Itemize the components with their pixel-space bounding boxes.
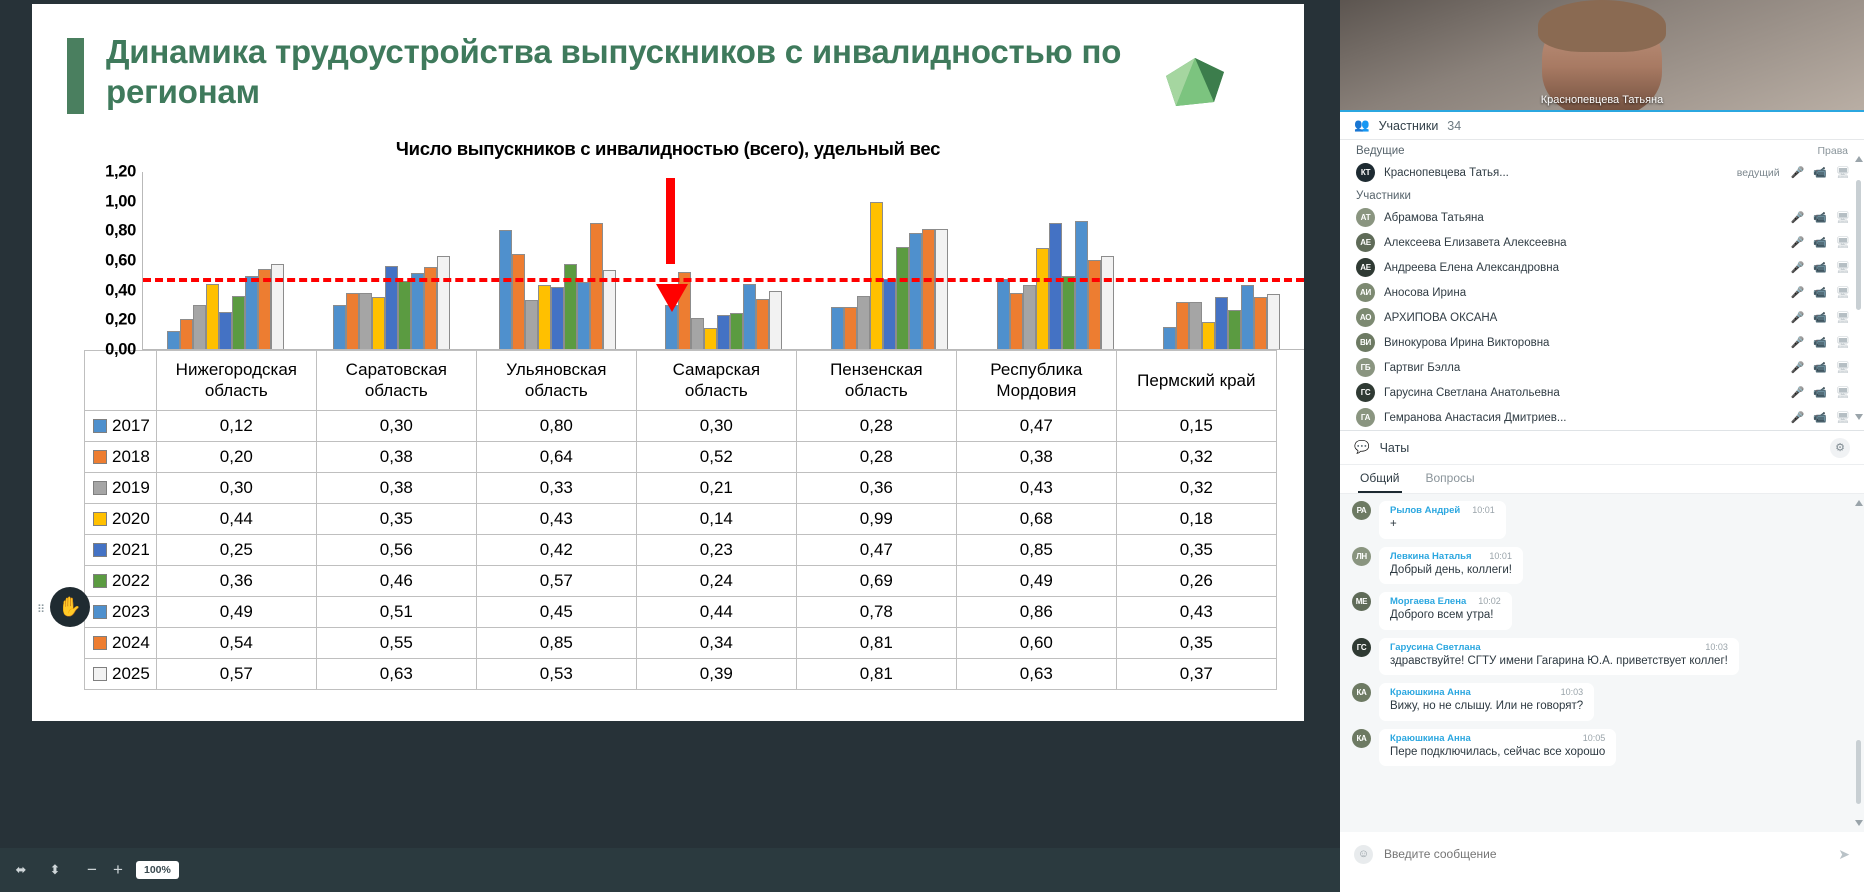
hosts-label: Ведущие (1356, 145, 1405, 157)
avatar: ГС (1356, 383, 1375, 402)
bar (1163, 327, 1176, 349)
red-arrow-annotation (662, 178, 678, 358)
participant-name: Алексеева Елизавета Алексеевна (1384, 237, 1782, 249)
chat-message: КАКраюшкина Анна10:03Вижу, но не слышу. … (1352, 683, 1852, 721)
table-cell: 0,44 (156, 503, 316, 534)
legend-entry: 2017 (85, 410, 157, 441)
avatar: КА (1352, 729, 1371, 748)
speaker-video-tile[interactable]: Краснопевцева Татьяна (1340, 0, 1864, 112)
screen-share-icon[interactable]: 🖥 (1836, 261, 1850, 274)
title-accent-bar (67, 38, 84, 114)
message-author: Левкина Наталья (1390, 551, 1472, 562)
bar (232, 296, 245, 349)
message-text: + (1390, 517, 1495, 533)
table-cell: 0,35 (1116, 627, 1276, 658)
table-category-header: Саратовская область (316, 351, 476, 411)
screen-share-icon[interactable]: 🖥 (1836, 386, 1850, 399)
table-cell: 0,36 (796, 472, 956, 503)
table-cell: 0,23 (636, 534, 796, 565)
legend-entry: 2023 (85, 596, 157, 627)
message-time: 10:01 (1472, 505, 1495, 515)
bar (512, 254, 525, 349)
chat-bubble: Гарусина Светлана10:03здравствуйте! СГТУ… (1379, 638, 1739, 676)
slide-title-row: Динамика трудоустройства выпускников с и… (32, 4, 1304, 114)
participant-row[interactable]: КТКраснопевцева Татья...ведущий🎤📹🖥 (1340, 160, 1864, 185)
legend-swatch (93, 512, 107, 526)
table-cell: 0,85 (476, 627, 636, 658)
tab-questions[interactable]: Вопросы (1424, 465, 1477, 493)
legend-entry: 2022 (85, 565, 157, 596)
bar (372, 297, 385, 349)
table-cell: 0,78 (796, 596, 956, 627)
legend-swatch (93, 450, 107, 464)
chat-bubble: Рылов Андрей10:01+ (1379, 501, 1506, 539)
table-cell: 0,80 (476, 410, 636, 441)
participant-row[interactable]: АЕАлексеева Елизавета Алексеевна🎤📹🖥 (1340, 230, 1864, 255)
mic-off-icon[interactable]: 🎤 (1791, 261, 1805, 274)
participant-name: АРХИПОВА ОКСАНА (1384, 312, 1782, 324)
participant-controls[interactable]: 🎤📹🖥 (1791, 261, 1850, 274)
bar (1228, 310, 1241, 349)
participants-section-header: Участники (1340, 185, 1864, 205)
participant-controls[interactable]: 🎤📹🖥 (1791, 211, 1850, 224)
table-row: 20190,300,380,330,210,360,430,32 (85, 472, 1277, 503)
table-cell: 0,32 (1116, 441, 1276, 472)
message-author: Рылов Андрей (1390, 505, 1460, 516)
chat-title: Чаты (1380, 441, 1410, 455)
avatar: АИ (1356, 283, 1375, 302)
message-time: 10:03 (1561, 687, 1584, 697)
table-cell: 0,47 (796, 534, 956, 565)
gear-icon[interactable]: ⚙ (1830, 438, 1850, 458)
screen-share-icon[interactable]: 🖥 (1836, 311, 1850, 324)
bar (538, 285, 551, 349)
bar (922, 229, 935, 349)
bar (1023, 285, 1036, 349)
cam-off-icon[interactable]: 📹 (1813, 286, 1827, 299)
table-row: 20200,440,350,430,140,990,680,18 (85, 503, 1277, 534)
participant-role: ведущий (1737, 167, 1780, 179)
rights-label: Права (1817, 145, 1848, 157)
participant-controls[interactable]: 🎤📹🖥 (1791, 411, 1850, 424)
table-cell: 0,64 (476, 441, 636, 472)
avatar: АО (1356, 308, 1375, 327)
mic-on-icon[interactable]: 🎤 (1791, 166, 1805, 179)
chat-bubble: Краюшкина Анна10:03Вижу, но не слышу. Ил… (1379, 683, 1594, 721)
avatar: ГБ (1356, 358, 1375, 377)
cam-off-icon[interactable]: 📹 (1813, 311, 1827, 324)
bar (180, 319, 193, 349)
table-cell: 0,24 (636, 565, 796, 596)
bar (346, 293, 359, 349)
screen-share-icon[interactable]: 🖥 (1836, 286, 1850, 299)
chat-composer[interactable]: ☺ ➤ (1340, 832, 1864, 876)
table-cell: 0,54 (156, 627, 316, 658)
table-cell: 0,55 (316, 627, 476, 658)
legend-swatch (93, 543, 107, 557)
chat-message: ЛНЛевкина Наталья10:01Добрый день, колле… (1352, 547, 1852, 585)
message-time: 10:01 (1489, 551, 1512, 561)
bar (704, 328, 717, 349)
mic-off-icon[interactable]: 🎤 (1791, 336, 1805, 349)
chat-scroll-down-arrow-icon[interactable] (1855, 820, 1863, 826)
plot-area (142, 172, 1304, 350)
participant-name: Винокурова Ирина Викторовна (1384, 337, 1782, 349)
table-cell: 0,38 (956, 441, 1116, 472)
hosts-section-header: Ведущие Права (1340, 140, 1864, 160)
participants-title: Участники (1379, 119, 1439, 133)
bar (1254, 297, 1267, 349)
table-cell: 0,47 (956, 410, 1116, 441)
participant-row[interactable]: АЕАндреева Елена Александровна🎤📹🖥 (1340, 255, 1864, 280)
table-cell: 0,43 (1116, 596, 1276, 627)
table-cell: 0,51 (316, 596, 476, 627)
participant-controls[interactable]: 🎤📹🖥 (1791, 286, 1850, 299)
speaker-hair (1538, 0, 1666, 52)
zoom-level-value[interactable]: 100% (136, 861, 179, 879)
presentation-viewer[interactable]: Динамика трудоустройства выпускников с и… (0, 0, 1340, 892)
participant-name: Аносова Ирина (1384, 287, 1782, 299)
mic-off-icon[interactable]: 🎤 (1791, 236, 1805, 249)
bar (398, 281, 411, 349)
table-cell: 0,21 (636, 472, 796, 503)
table-cell: 0,35 (316, 503, 476, 534)
chat-panel: 💬 Чаты ⚙ Общий Вопросы РАРылов Андрей10:… (1340, 430, 1864, 892)
bar (1202, 322, 1215, 349)
cam-off-icon[interactable]: 📹 (1813, 211, 1827, 224)
table-cell: 0,68 (956, 503, 1116, 534)
table-cell: 0,86 (956, 596, 1116, 627)
legend-entry: 2025 (85, 658, 157, 689)
page-title: Динамика трудоустройства выпускников с и… (106, 32, 1166, 114)
bar (359, 293, 372, 349)
chat-scrollbar[interactable] (1856, 500, 1861, 826)
bar (167, 331, 180, 349)
cam-off-icon[interactable]: 📹 (1813, 386, 1827, 399)
table-cell: 0,36 (156, 565, 316, 596)
speaker-name-label: Краснопевцева Татьяна (1541, 94, 1663, 106)
table-cell: 0,42 (476, 534, 636, 565)
chat-message: РАРылов Андрей10:01+ (1352, 501, 1852, 539)
participant-name: Гарусина Светлана Анатольевна (1384, 387, 1782, 399)
table-cell: 0,20 (156, 441, 316, 472)
participants-count: 34 (1447, 119, 1461, 133)
bar (717, 315, 730, 349)
table-cell: 0,26 (1116, 565, 1276, 596)
avatar: РА (1352, 501, 1371, 520)
mic-off-icon[interactable]: 🎤 (1791, 386, 1805, 399)
table-cell: 0,57 (476, 565, 636, 596)
chat-tabs[interactable]: Общий Вопросы (1340, 465, 1864, 494)
emoji-icon[interactable]: ☺ (1354, 845, 1373, 864)
legend-swatch (93, 574, 107, 588)
zoom-controls[interactable]: − + 100% (84, 860, 179, 880)
bar-group (972, 172, 1138, 349)
y-axis-tick: 0,80 (105, 222, 136, 241)
bar (769, 291, 782, 349)
cam-off-icon[interactable]: 📹 (1813, 336, 1827, 349)
chat-messages[interactable]: РАРылов Андрей10:01+ЛНЛевкина Наталья10:… (1340, 494, 1864, 832)
participant-row[interactable]: АТАбрамова Татьяна🎤📹🖥 (1340, 205, 1864, 230)
table-category-header: Республика Мордовия (956, 351, 1116, 411)
participant-controls[interactable]: 🎤📹🖥 (1791, 361, 1850, 374)
bar (1241, 285, 1254, 349)
bar-group (143, 172, 309, 349)
avatar: ЛН (1352, 547, 1371, 566)
hand-tool-button[interactable]: ✋ (50, 587, 90, 627)
table-cell: 0,85 (956, 534, 1116, 565)
message-time: 10:03 (1705, 642, 1728, 652)
table-cell: 0,57 (156, 658, 316, 689)
table-cell: 0,28 (796, 410, 956, 441)
chat-message: ГСГарусина Светлана10:03здравствуйте! СГ… (1352, 638, 1852, 676)
participant-row[interactable]: АИАносова Ирина🎤📹🖥 (1340, 280, 1864, 305)
legend-swatch (93, 667, 107, 681)
bar (1267, 294, 1280, 349)
table-cell: 0,32 (1116, 472, 1276, 503)
chat-bubble: Левкина Наталья10:01Добрый день, коллеги… (1379, 547, 1523, 585)
bar (551, 287, 564, 349)
table-cell: 0,38 (316, 441, 476, 472)
message-time: 10:05 (1583, 733, 1606, 743)
avatar: АЕ (1356, 258, 1375, 277)
screen-share-icon[interactable]: 🖥 (1836, 411, 1850, 424)
cam-off-icon[interactable]: 📹 (1813, 411, 1827, 424)
fit-page-icon[interactable]: ⬍ (42, 859, 68, 881)
legend-entry: 2019 (85, 472, 157, 503)
chat-bubble: Краюшкина Анна10:05Пере подключилась, се… (1379, 729, 1616, 767)
screen-share-icon[interactable]: 🖥 (1836, 361, 1850, 374)
bar (756, 299, 769, 349)
mic-off-icon[interactable]: 🎤 (1791, 361, 1805, 374)
hand-icon: ✋ (58, 595, 82, 619)
slide-canvas[interactable]: Динамика трудоустройства выпускников с и… (32, 4, 1304, 721)
participant-row[interactable]: ГСГарусина Светлана Анатольевна🎤📹🖥 (1340, 380, 1864, 405)
avatar: ГА (1356, 408, 1375, 427)
bar-group (475, 172, 641, 349)
bar (1062, 276, 1075, 349)
bar (743, 284, 756, 349)
table-cell: 0,43 (476, 503, 636, 534)
cam-off-icon[interactable]: 📹 (1813, 361, 1827, 374)
table-cell: 0,46 (316, 565, 476, 596)
mic-off-icon[interactable]: 🎤 (1791, 286, 1805, 299)
table-cell: 0,34 (636, 627, 796, 658)
message-text: Добрый день, коллеги! (1390, 563, 1512, 579)
avatar: КТ (1356, 163, 1375, 182)
scroll-up-arrow-icon[interactable] (1855, 156, 1863, 162)
bar (1036, 248, 1049, 349)
table-row: 20180,200,380,640,520,280,380,32 (85, 441, 1277, 472)
screen-share-icon[interactable]: 🖥 (1836, 211, 1850, 224)
bar (333, 305, 346, 350)
table-row: 20240,540,550,850,340,810,600,35 (85, 627, 1277, 658)
bar (271, 264, 284, 349)
participants-scrollbar[interactable] (1856, 156, 1861, 420)
table-row: 20250,570,630,530,390,810,630,37 (85, 658, 1277, 689)
legend-swatch (93, 481, 107, 495)
legend-entry: 2024 (85, 627, 157, 658)
message-author: Гарусина Светлана (1390, 642, 1481, 653)
bar (896, 247, 909, 349)
table-category-header: Нижегородская область (156, 351, 316, 411)
zoom-in-button[interactable]: + (110, 860, 126, 880)
table-cell: 0,56 (316, 534, 476, 565)
table-cell: 0,44 (636, 596, 796, 627)
bar (193, 305, 206, 350)
y-axis-tick: 1,00 (105, 192, 136, 211)
bar (883, 279, 896, 349)
table-cell: 0,81 (796, 658, 956, 689)
scrollbar-thumb[interactable] (1856, 180, 1861, 310)
tab-general[interactable]: Общий (1358, 465, 1402, 493)
chat-message: МЕМоргаева Елена10:02Доброго всем утра! (1352, 592, 1852, 630)
table-cell: 0,30 (156, 472, 316, 503)
screen-share-icon[interactable]: 🖥 (1836, 336, 1850, 349)
bar (1189, 302, 1202, 349)
bar (525, 300, 538, 349)
screen-share-icon[interactable]: 🖥 (1836, 166, 1850, 179)
participant-controls[interactable]: 🎤📹🖥 (1791, 311, 1850, 324)
legend-swatch (93, 419, 107, 433)
table-cell: 0,38 (316, 472, 476, 503)
table-cell: 0,63 (316, 658, 476, 689)
send-icon[interactable]: ➤ (1838, 846, 1850, 863)
participants-list[interactable]: Ведущие Права КТКраснопевцева Татья...ве… (1340, 140, 1864, 436)
participant-controls[interactable]: 🎤📹🖥 (1791, 236, 1850, 249)
participant-name: Краснопевцева Татья... (1384, 167, 1728, 179)
mic-off-icon[interactable]: 🎤 (1791, 311, 1805, 324)
table-cell: 0,45 (476, 596, 636, 627)
avatar: МЕ (1352, 592, 1371, 611)
cam-off-icon[interactable]: 📹 (1813, 261, 1827, 274)
meeting-sidebar: Краснопевцева Татьяна 👥 Участники 34 Вед… (1340, 0, 1864, 892)
green-cube-logo-icon (1164, 56, 1226, 114)
bar (1176, 302, 1189, 349)
table-category-header: Пермский край (1116, 351, 1276, 411)
bar-group (309, 172, 475, 349)
table-cell: 0,14 (636, 503, 796, 534)
table-cell: 0,18 (1116, 503, 1276, 534)
bar (691, 318, 704, 349)
participant-row[interactable]: ГБГартвиг Бэлла🎤📹🖥 (1340, 355, 1864, 380)
table-cell: 0,53 (476, 658, 636, 689)
bar (870, 202, 883, 349)
participant-name: Андреева Елена Александровна (1384, 262, 1782, 274)
bar (1215, 297, 1228, 349)
bar (831, 307, 844, 349)
bar (219, 312, 232, 349)
bar (577, 282, 590, 349)
participant-controls[interactable]: 🎤📹🖥 (1791, 386, 1850, 399)
message-author: Краюшкина Анна (1390, 733, 1471, 744)
table-cell: 0,69 (796, 565, 956, 596)
zoom-out-button[interactable]: − (84, 860, 100, 880)
bar (499, 230, 512, 349)
cam-on-icon[interactable]: 📹 (1813, 166, 1827, 179)
table-cell: 0,43 (956, 472, 1116, 503)
participants-icon: 👥 (1354, 118, 1370, 133)
y-axis-tick: 1,20 (105, 163, 136, 182)
participants-section-label: Участники (1356, 190, 1411, 202)
chat-scroll-up-arrow-icon[interactable] (1855, 500, 1863, 506)
avatar: АЕ (1356, 233, 1375, 252)
message-text: Доброго всем утра! (1390, 608, 1501, 624)
y-axis-tick: 0,60 (105, 252, 136, 271)
table-cell: 0,37 (1116, 658, 1276, 689)
y-axis: 0,000,200,400,600,801,001,20 (84, 172, 142, 350)
table-cell: 0,63 (956, 658, 1116, 689)
table-cell: 0,12 (156, 410, 316, 441)
participant-row[interactable]: АОАРХИПОВА ОКСАНА🎤📹🖥 (1340, 305, 1864, 330)
cam-off-icon[interactable]: 📹 (1813, 236, 1827, 249)
bar (730, 313, 743, 349)
participant-row[interactable]: ГАГемранова Анастасия Дмитриев...🎤📹🖥 (1340, 405, 1864, 430)
participant-row[interactable]: ВИВинокурова Ирина Викторовна🎤📹🖥 (1340, 330, 1864, 355)
chat-panel-header: 💬 Чаты ⚙ (1340, 431, 1864, 465)
table-cell: 0,30 (636, 410, 796, 441)
tool-drag-handle[interactable]: ⠿ (37, 608, 45, 613)
fit-width-icon[interactable]: ⬌ (8, 859, 34, 881)
participant-name: Гемранова Анастасия Дмитриев... (1384, 412, 1782, 424)
chat-icon: 💬 (1354, 440, 1370, 455)
avatar: ГС (1352, 638, 1371, 657)
scroll-down-arrow-icon[interactable] (1855, 414, 1863, 420)
message-text: здравствуйте! СГТУ имени Гагарина Ю.А. п… (1390, 654, 1728, 670)
y-axis-tick: 0,00 (105, 341, 136, 360)
table-category-header: Пензенская область (796, 351, 956, 411)
bar (437, 256, 450, 349)
message-time: 10:02 (1478, 596, 1501, 606)
participant-name: Абрамова Татьяна (1384, 212, 1782, 224)
table-row: 20230,490,510,450,440,780,860,43 (85, 596, 1277, 627)
chat-scrollbar-thumb[interactable] (1856, 740, 1861, 804)
avatar: ВИ (1356, 333, 1375, 352)
table-row: 20220,360,460,570,240,690,490,26 (85, 565, 1277, 596)
table-cell: 0,28 (796, 441, 956, 472)
participant-controls[interactable]: 🎤📹🖥 (1791, 166, 1850, 179)
table-cell: 0,25 (156, 534, 316, 565)
bar (564, 264, 577, 349)
bar (1101, 256, 1114, 349)
table-row: 20170,120,300,800,300,280,470,15 (85, 410, 1277, 441)
bar (1049, 223, 1062, 349)
participant-controls[interactable]: 🎤📹🖥 (1791, 336, 1850, 349)
y-axis-tick: 0,40 (105, 281, 136, 300)
y-axis-tick: 0,20 (105, 311, 136, 330)
bar (1075, 221, 1088, 349)
mic-off-icon[interactable]: 🎤 (1791, 211, 1805, 224)
legend-entry: 2021 (85, 534, 157, 565)
bar (1088, 260, 1101, 349)
chart-area: 0,000,200,400,600,801,001,20 (32, 172, 1304, 350)
table-category-header: Ульяновская область (476, 351, 636, 411)
target-threshold-line (143, 278, 1304, 282)
table-cell: 0,49 (956, 565, 1116, 596)
viewer-bottom-toolbar[interactable]: ⬌ ⬍ − + 100% (0, 848, 1340, 892)
chat-message-input[interactable] (1384, 847, 1827, 861)
legend-swatch (93, 636, 107, 650)
message-author: Моргаева Елена (1390, 596, 1466, 607)
table-cell: 0,81 (796, 627, 956, 658)
screen-share-icon[interactable]: 🖥 (1836, 236, 1850, 249)
bar (245, 276, 258, 349)
bar (844, 307, 857, 349)
message-author: Краюшкина Анна (1390, 687, 1471, 698)
table-cell: 0,39 (636, 658, 796, 689)
table-cell: 0,99 (796, 503, 956, 534)
mic-off-icon[interactable]: 🎤 (1791, 411, 1805, 424)
